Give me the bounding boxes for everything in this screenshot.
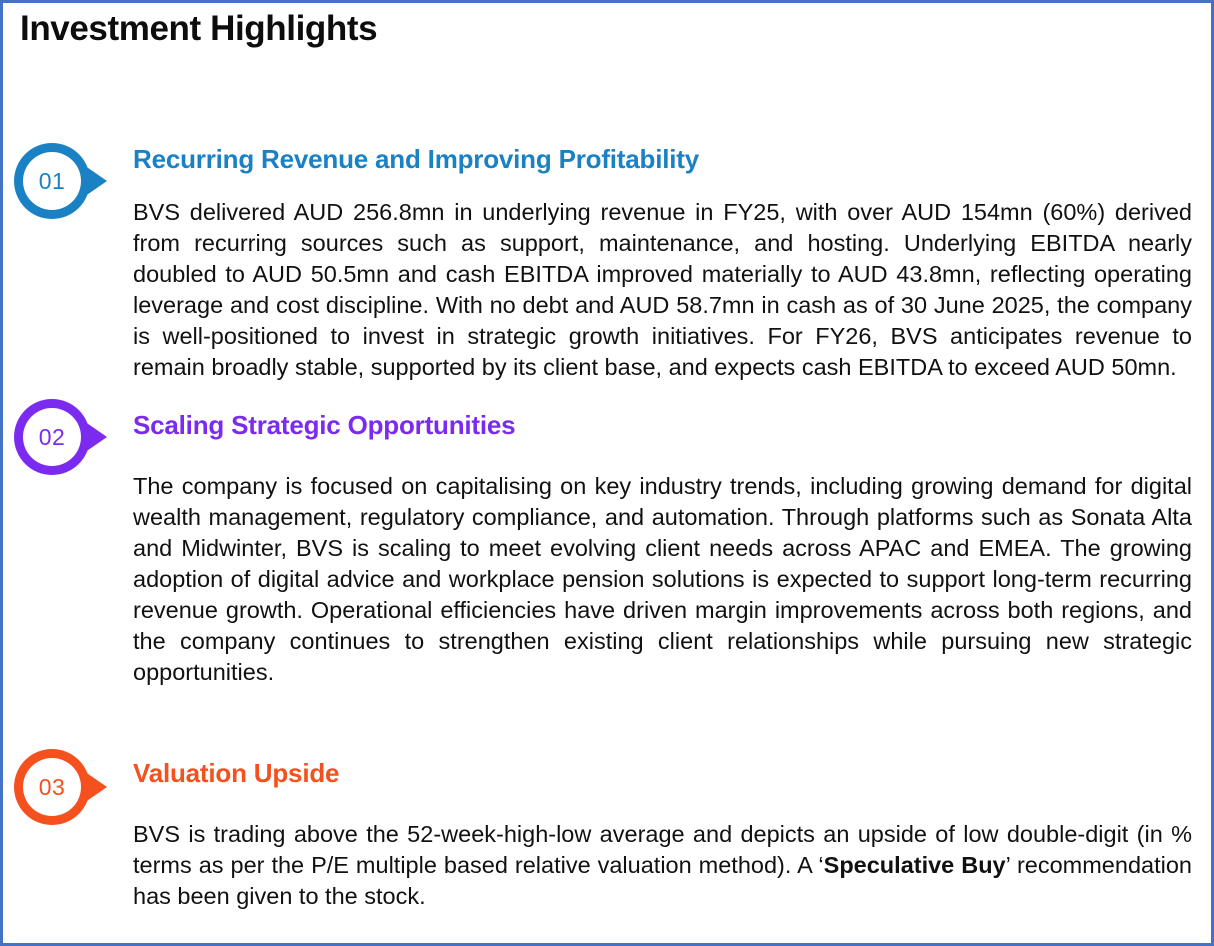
section-text-2: The company is focused on capitalising o…	[133, 441, 1192, 688]
section-body-1: Recurring Revenue and Improving Profitab…	[133, 65, 1192, 383]
page-title: Investment Highlights	[20, 9, 1211, 49]
section-heading-1: Recurring Revenue and Improving Profitab…	[133, 65, 1192, 175]
highlight-section-1: 01 Recurring Revenue and Improving Profi…	[3, 65, 1211, 395]
badge-number-2: 02	[11, 396, 93, 478]
recommendation-emphasis: Speculative Buy	[824, 852, 1006, 878]
section-body-2: Scaling Strategic Opportunities The comp…	[133, 395, 1192, 688]
section-heading-2: Scaling Strategic Opportunities	[133, 395, 1192, 441]
numbered-pin-icon: 01	[11, 140, 121, 222]
badge-3-wrapper: 03	[11, 746, 121, 828]
highlight-section-2: 02 Scaling Strategic Opportunities The c…	[3, 395, 1211, 743]
section-body-3: Valuation Upside BVS is trading above th…	[133, 743, 1192, 912]
section-text-1: BVS delivered AUD 256.8mn in underlying …	[133, 175, 1192, 383]
badge-1-wrapper: 01	[11, 140, 121, 222]
section-heading-3: Valuation Upside	[133, 743, 1192, 789]
highlight-section-3: 03 Valuation Upside BVS is trading above…	[3, 743, 1211, 923]
numbered-pin-icon: 02	[11, 396, 121, 478]
badge-number-1: 01	[11, 140, 93, 222]
section-text-3: BVS is trading above the 52-week-high-lo…	[133, 789, 1192, 912]
highlights-list: 01 Recurring Revenue and Improving Profi…	[3, 65, 1211, 923]
badge-2-wrapper: 02	[11, 396, 121, 478]
numbered-pin-icon: 03	[11, 746, 121, 828]
investment-highlights-page: Investment Highlights 01 Recurring Reven…	[0, 0, 1214, 946]
badge-number-3: 03	[11, 746, 93, 828]
